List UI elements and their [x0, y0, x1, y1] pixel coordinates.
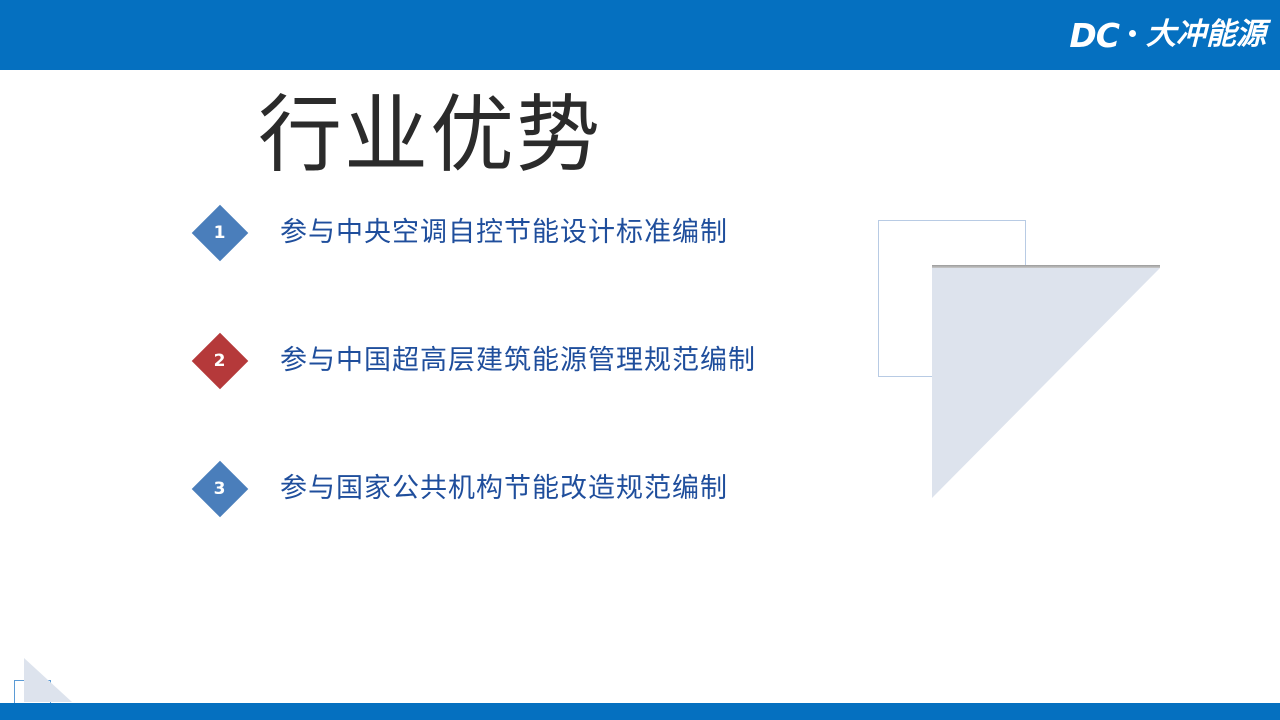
diamond-marker-2: 2: [192, 333, 249, 390]
diamond-number-label: 3: [214, 481, 226, 498]
slide-canvas: DC 大冲能源 行业优势 1 参与中央空调自控节能设计标准编制 2 参与中国超高…: [0, 0, 1280, 720]
decoration-triangle: [932, 268, 1160, 498]
bottom-accent-bar: [0, 703, 1280, 720]
list-item-text: 参与中央空调自控节能设计标准编制: [280, 213, 728, 253]
decoration-triangle-edge: [932, 265, 1160, 268]
diamond-number-label: 1: [214, 225, 226, 242]
logo-dc-text: DC: [1069, 19, 1119, 52]
company-logo: DC 大冲能源: [1069, 14, 1266, 56]
list-item: 1 参与中央空调自控节能设计标准编制: [196, 213, 836, 341]
diamond-marker-1: 1: [192, 205, 249, 262]
top-brand-bar: DC 大冲能源: [0, 0, 1280, 70]
page-title: 行业优势: [258, 85, 602, 185]
list-item-text: 参与国家公共机构节能改造规范编制: [280, 469, 728, 509]
list-item-text: 参与中国超高层建筑能源管理规范编制: [280, 341, 756, 381]
list-item: 3 参与国家公共机构节能改造规范编制: [196, 469, 836, 597]
advantage-list: 1 参与中央空调自控节能设计标准编制 2 参与中国超高层建筑能源管理规范编制 3…: [196, 213, 836, 597]
decoration-triangle-group: [860, 205, 1180, 515]
decoration-bl-triangle: [24, 658, 72, 702]
list-item: 2 参与中国超高层建筑能源管理规范编制: [196, 341, 836, 469]
logo-dc-mark: DC: [1069, 19, 1119, 52]
logo-dot-icon: [1129, 30, 1136, 37]
decoration-bottom-left: [10, 655, 90, 710]
logo-company-name: 大冲能源: [1146, 20, 1266, 50]
diamond-number-label: 2: [214, 353, 226, 370]
diamond-marker-3: 3: [192, 461, 249, 518]
decoration-right: [860, 205, 1180, 515]
